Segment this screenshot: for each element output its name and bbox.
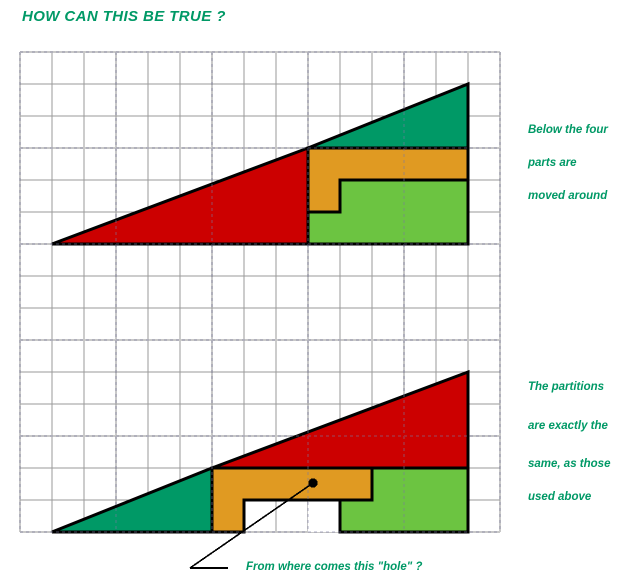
note-top-line-2: parts are (528, 157, 577, 169)
figure-canvas: HOW CAN THIS BE TRUE ? Below the four pa… (0, 0, 624, 588)
hole-caption: From where comes this "hole" ? (246, 561, 422, 573)
note-top-line-3: moved around (528, 190, 607, 202)
bottom-hole-fill (308, 500, 340, 532)
callout-dot (308, 478, 317, 487)
note-bottom-line-3: same, as those (528, 458, 610, 470)
note-top-line-1: Below the four (528, 124, 608, 136)
note-bottom-line-4: used above (528, 491, 591, 503)
note-bottom-line-2: are exactly the (528, 420, 608, 432)
note-bottom-line-1: The partitions (528, 381, 604, 393)
